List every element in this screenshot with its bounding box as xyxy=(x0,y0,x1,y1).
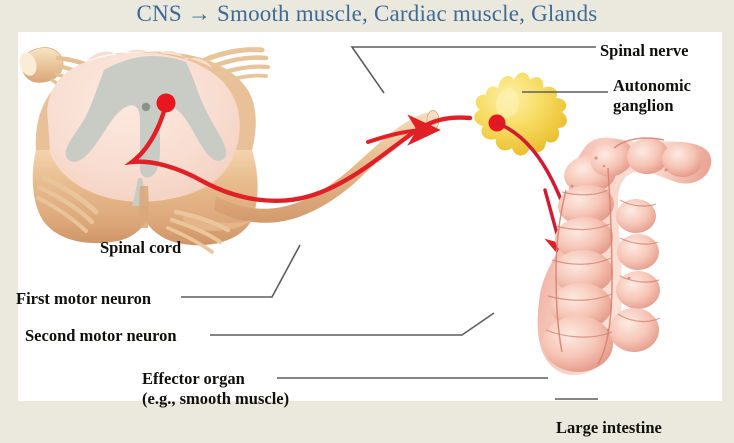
label-spinal-cord: Spinal cord xyxy=(100,238,181,258)
label-effector-organ-line1: Effector organ xyxy=(142,369,289,389)
page-title: CNS → Smooth muscle, Cardiac muscle, Gla… xyxy=(0,1,734,27)
label-effector-organ-line2: (e.g., smooth muscle) xyxy=(142,389,289,409)
label-autonomic-ganglion-line2: ganglion xyxy=(613,96,691,116)
label-autonomic-ganglion-line1: Autonomic xyxy=(613,76,691,96)
figure-root: CNS → Smooth muscle, Cardiac muscle, Gla… xyxy=(0,0,734,443)
label-second-motor-neuron: Second motor neuron xyxy=(25,326,177,346)
label-first-motor-neuron: First motor neuron xyxy=(16,289,151,309)
label-autonomic-ganglion: Autonomic ganglion xyxy=(613,76,691,116)
label-spinal-nerve: Spinal nerve xyxy=(600,41,688,61)
label-effector-organ: Effector organ (e.g., smooth muscle) xyxy=(142,369,289,409)
label-large-intestine: Large intestine xyxy=(556,418,662,438)
